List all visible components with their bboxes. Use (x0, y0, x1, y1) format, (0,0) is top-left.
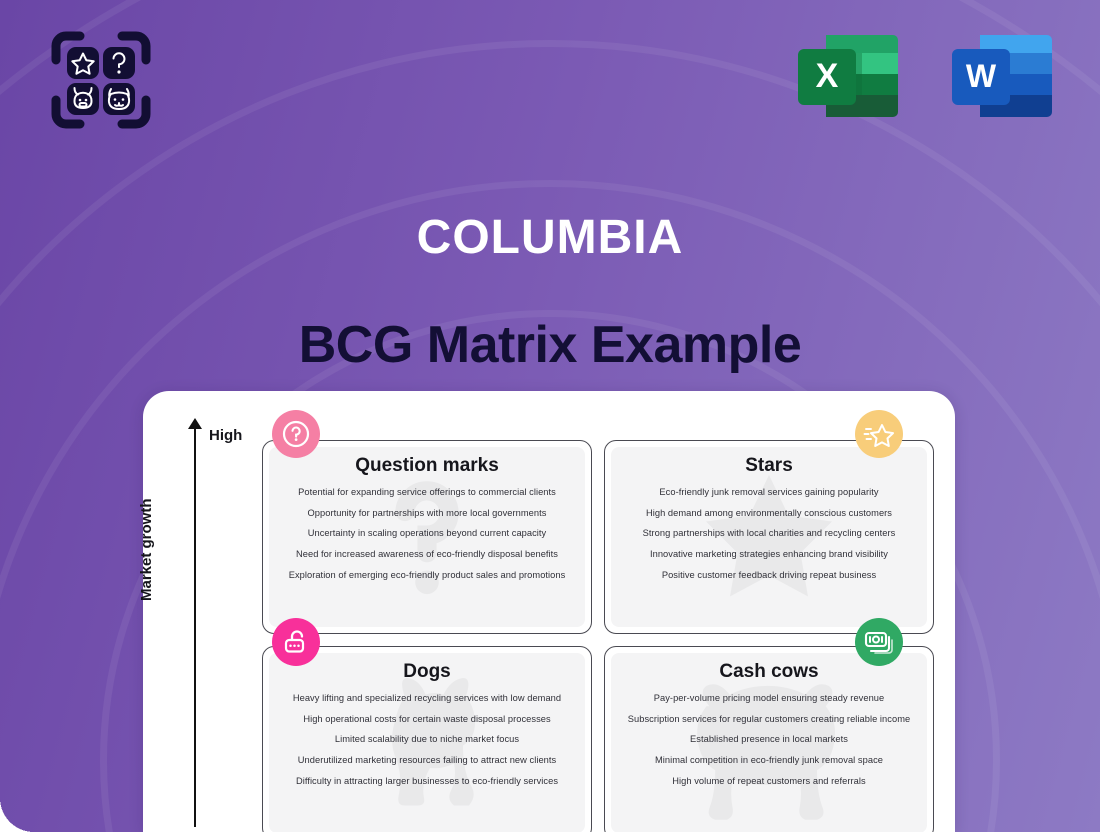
word-icon: W (950, 27, 1054, 125)
brand-title: COLUMBIA (0, 210, 1100, 265)
axis-high-label: High (209, 427, 242, 444)
quadrant-question-marks[interactable]: Question marks Potential for expanding s… (262, 440, 592, 634)
bullet-item: Innovative marketing strategies enhancin… (621, 549, 917, 560)
bullet-item: Heavy lifting and specialized recycling … (279, 693, 575, 704)
excel-letter: X (816, 57, 839, 95)
bullet-item: Underutilized marketing resources failin… (279, 755, 575, 766)
badge-question-marks[interactable] (272, 410, 320, 458)
quadrant-stars[interactable]: Stars Eco-friendly junk removal services… (604, 440, 934, 634)
excel-icon: X (796, 27, 900, 125)
bullet-item: Need for increased awareness of eco-frie… (279, 549, 575, 560)
quadrant-bullets: Heavy lifting and specialized recycling … (279, 693, 575, 786)
bullet-item: Opportunity for partnerships with more l… (279, 508, 575, 519)
badge-stars[interactable] (855, 410, 903, 458)
quadrant-cash-cows[interactable]: Cash cows Pay-per-volume pricing model e… (604, 646, 934, 832)
bullet-item: High volume of repeat customers and refe… (621, 776, 917, 787)
star-icon (863, 418, 895, 450)
bullet-item: Exploration of emerging eco-friendly pro… (279, 570, 575, 581)
badge-cash-cows[interactable] (855, 618, 903, 666)
bullet-item: Limited scalability due to niche market … (279, 734, 575, 745)
office-icons: X W (796, 27, 1054, 125)
word-letter: W (966, 58, 997, 94)
bullet-item: Potential for expanding service offering… (279, 487, 575, 498)
bcg-matrix-logo (50, 30, 152, 130)
bcg-matrix-grid: Question marks Potential for expanding s… (262, 440, 934, 832)
axis-title-label: Market growth (138, 498, 155, 601)
bullet-item: Eco-friendly junk removal services gaini… (621, 487, 917, 498)
bullet-item: Positive customer feedback driving repea… (621, 570, 917, 581)
bullet-item: Subscription services for regular custom… (621, 714, 917, 725)
question-mark-icon (281, 419, 311, 449)
bullet-item: Strong partnerships with local charities… (621, 528, 917, 539)
slide-canvas: X W COLUMBIA BCG Matrix Example High Mar… (0, 0, 1100, 832)
y-axis-line (194, 427, 196, 827)
matrix-card: High Market growth Question marks Potent… (143, 391, 955, 832)
quadrant-title: Question marks (279, 455, 575, 477)
bullet-item: Uncertainty in scaling operations beyond… (279, 528, 575, 539)
page-title: BCG Matrix Example (0, 315, 1100, 375)
badge-dogs[interactable] (272, 618, 320, 666)
quadrant-dogs[interactable]: Dogs Heavy lifting and specialized recyc… (262, 646, 592, 832)
bullet-item: Minimal competition in eco-friendly junk… (621, 755, 917, 766)
quadrant-bullets: Potential for expanding service offering… (279, 487, 575, 580)
quadrant-bullets: Pay-per-volume pricing model ensuring st… (621, 693, 917, 786)
banknotes-icon (863, 626, 895, 658)
bullet-item: Difficulty in attracting larger business… (279, 776, 575, 787)
quadrant-bullets: Eco-friendly junk removal services gaini… (621, 487, 917, 580)
quadrant-title: Dogs (279, 661, 575, 683)
bullet-item: High operational costs for certain waste… (279, 714, 575, 725)
bullet-item: High demand among environmentally consci… (621, 508, 917, 519)
quadrant-title: Stars (621, 455, 917, 477)
padlock-open-icon (281, 627, 311, 657)
bullet-item: Established presence in local markets (621, 734, 917, 745)
bullet-item: Pay-per-volume pricing model ensuring st… (621, 693, 917, 704)
